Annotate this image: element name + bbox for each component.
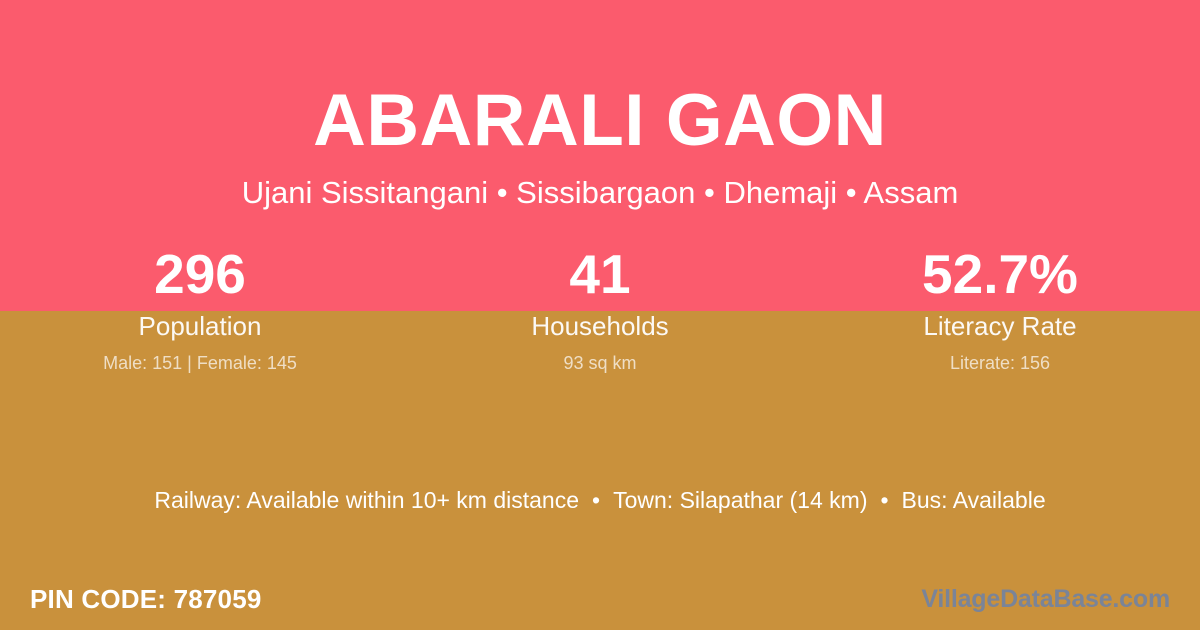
stat-value-households: 41	[400, 243, 800, 305]
stat-value-population: 296	[0, 243, 400, 305]
page-title: ABARALI GAON	[0, 0, 1200, 163]
amenities-line: Railway: Available within 10+ km distanc…	[0, 485, 1200, 515]
amenity-separator-2: •	[867, 485, 901, 515]
breadcrumb: Ujani Sissitangani • Sissibargaon • Dhem…	[0, 163, 1200, 212]
amenity-town: Town: Silapathar (14 km)	[613, 487, 867, 513]
stat-label-literacy-rate: Literacy Rate	[800, 311, 1200, 341]
stat-sub-literacy-rate: Literate: 156	[800, 352, 1200, 374]
amenity-railway: Railway: Available within 10+ km distanc…	[154, 487, 579, 513]
stat-households: 41 Households 93 sq km	[400, 243, 800, 374]
pin-code: PIN CODE: 787059	[30, 584, 262, 614]
amenity-bus: Bus: Available	[902, 487, 1046, 513]
stat-label-population: Population	[0, 311, 400, 341]
stat-value-literacy-rate: 52.7%	[800, 243, 1200, 305]
site-logo: VillageDataBase.com	[921, 584, 1170, 614]
card-header: ABARALI GAON Ujani Sissitangani • Sissib…	[0, 0, 1200, 212]
stat-label-households: Households	[400, 311, 800, 341]
stat-sub-population: Male: 151 | Female: 145	[0, 352, 400, 374]
stat-sub-households: 93 sq km	[400, 352, 800, 374]
amenity-separator-1: •	[579, 485, 613, 515]
card-footer: PIN CODE: 787059 VillageDataBase.com	[0, 568, 1200, 630]
stat-literacy-rate: 52.7% Literacy Rate Literate: 156	[800, 243, 1200, 374]
stats-row: 296 Population Male: 151 | Female: 145 4…	[0, 243, 1200, 374]
village-info-card: ABARALI GAON Ujani Sissitangani • Sissib…	[0, 0, 1200, 630]
stat-population: 296 Population Male: 151 | Female: 145	[0, 243, 400, 374]
